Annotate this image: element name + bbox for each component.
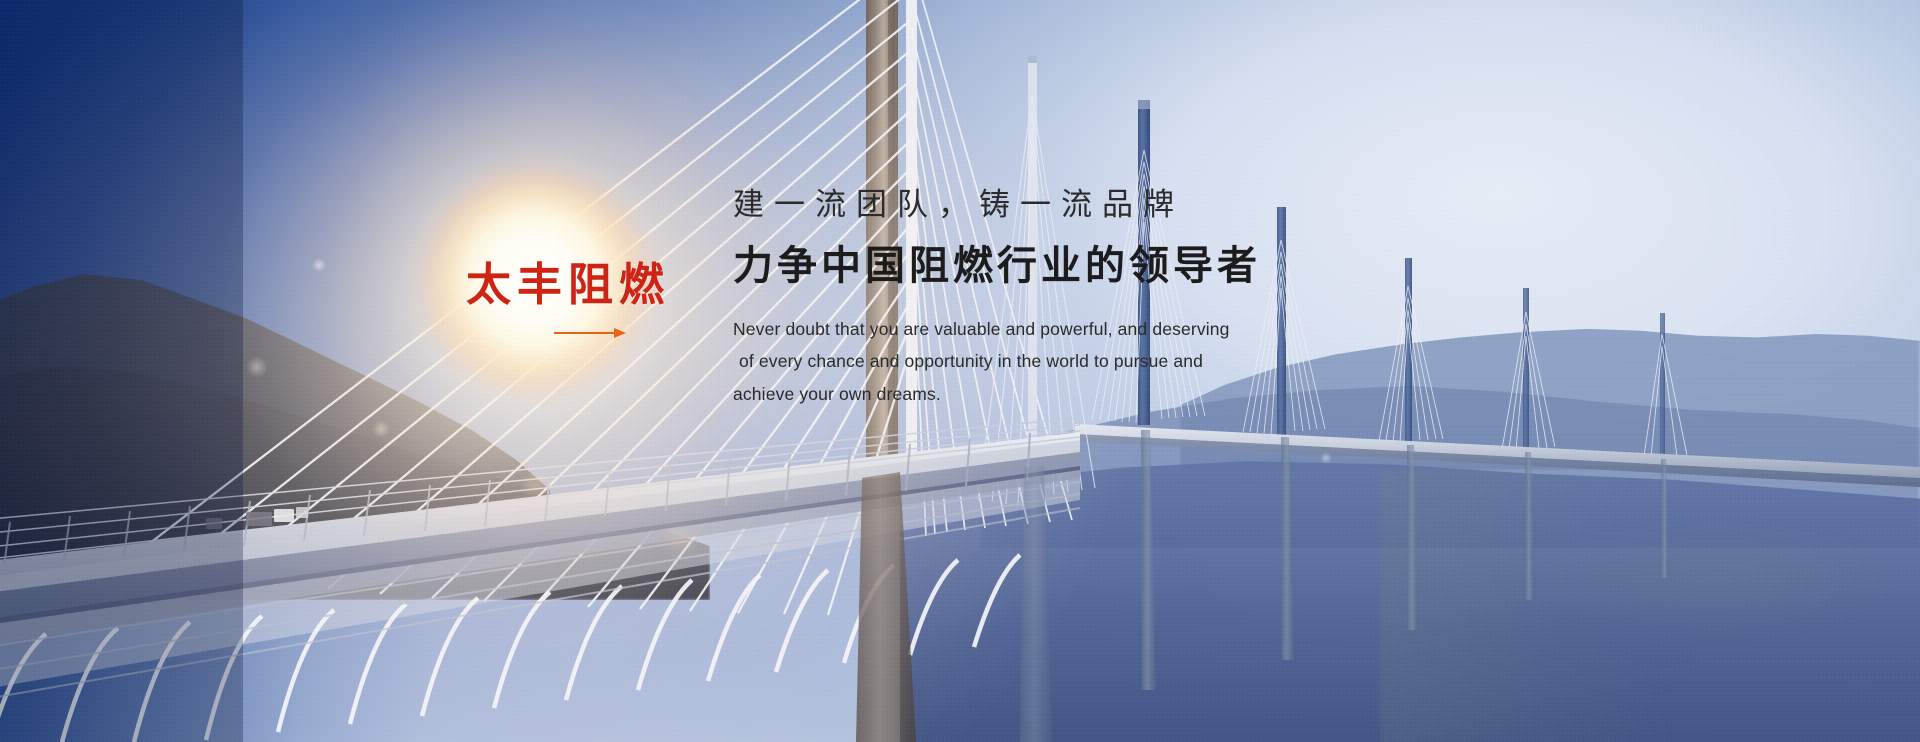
arrow-right-icon (554, 327, 626, 339)
body-copy-line-1: Never doubt that you are valuable and po… (733, 313, 1261, 345)
body-copy-line-3: achieve your own dreams. (733, 378, 1261, 410)
headline-block: 建一流团队，铸一流品牌 力争中国阻燃行业的领导者 Never doubt tha… (733, 186, 1261, 410)
body-copy-line-2: of every chance and opportunity in the w… (733, 345, 1261, 377)
headline-title: 力争中国阻燃行业的领导者 (733, 241, 1261, 291)
left-dark-overlay-panel (0, 0, 243, 742)
body-copy: Never doubt that you are valuable and po… (733, 313, 1261, 410)
company-logo[interactable]: 太丰阻燃 (466, 262, 670, 339)
arrow-head (614, 328, 626, 338)
headline-subtitle: 建一流团队，铸一流品牌 (733, 186, 1261, 225)
company-logo-text: 太丰阻燃 (466, 262, 670, 307)
arrow-shaft (554, 332, 616, 334)
hero-banner: 太丰阻燃 建一流团队，铸一流品牌 力争中国阻燃行业的领导者 Never doub… (0, 0, 1920, 742)
